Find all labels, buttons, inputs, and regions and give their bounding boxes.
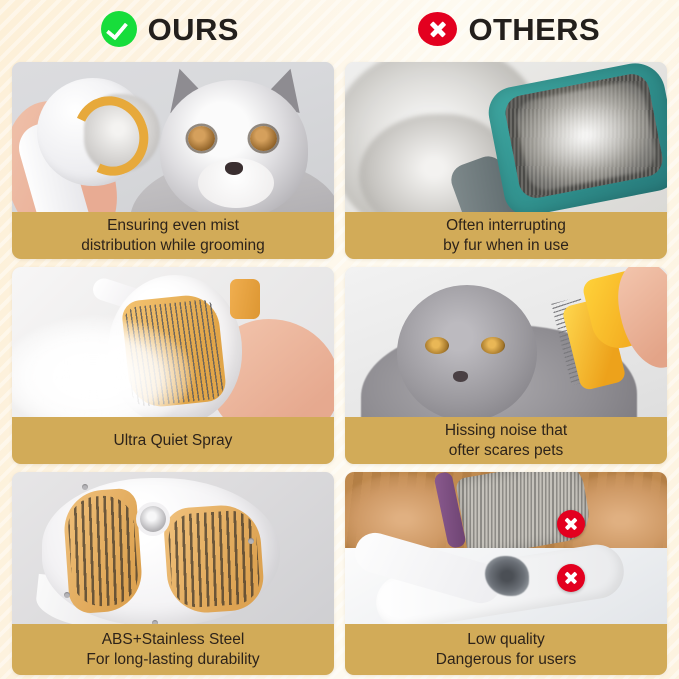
caption-line: ofter scares pets <box>449 441 564 461</box>
x-circle-icon <box>418 12 457 46</box>
scene-clogged-brush-and-broken-handle <box>345 472 667 624</box>
panel-others-row3: Low quality Dangerous for users <box>345 472 667 675</box>
scene-quiet-steam-spray <box>12 267 334 417</box>
header-ours-label: OURS <box>148 14 239 45</box>
caption-ours-row3: ABS+Stainless Steel For long-lasting dur… <box>12 624 334 675</box>
caption-others-row3: Low quality Dangerous for users <box>345 624 667 675</box>
header: OURS OTHERS <box>0 0 679 58</box>
caption-ours-row1: Ensuring even mist distribution while gr… <box>12 212 334 259</box>
scene-product-closeup-steel-plate <box>12 472 334 624</box>
x-circle-icon <box>557 564 585 592</box>
photo-ours-row1 <box>12 62 334 212</box>
caption-line: ABS+Stainless Steel <box>102 630 245 650</box>
comparison-infographic: OURS OTHERS <box>0 0 679 679</box>
photo-others-row1 <box>345 62 667 212</box>
scene-steam-brush-with-cat <box>12 62 334 212</box>
caption-line: distribution while grooming <box>81 236 265 256</box>
caption-line: Dangerous for users <box>436 650 576 670</box>
panel-ours-row1: Ensuring even mist distribution while gr… <box>12 62 334 259</box>
caption-others-row2: Hissing noise that ofter scares pets <box>345 417 667 464</box>
header-others-label: OTHERS <box>468 14 600 45</box>
photo-others-row2 <box>345 267 667 417</box>
caption-line: For long-lasting durability <box>86 650 259 670</box>
photo-ours-row2 <box>12 267 334 417</box>
caption-line: Low quality <box>467 630 545 650</box>
photo-ours-row3 <box>12 472 334 624</box>
header-others: OTHERS <box>340 0 679 58</box>
panel-grid: Ensuring even mist distribution while gr… <box>0 58 679 679</box>
panel-ours-row3: ABS+Stainless Steel For long-lasting dur… <box>12 472 334 675</box>
scene-scared-cat-yellow-brush <box>345 267 667 417</box>
caption-ours-row2: Ultra Quiet Spray <box>12 417 334 464</box>
caption-line: Ensuring even mist <box>107 216 239 236</box>
caption-line: Hissing noise that <box>445 421 567 441</box>
scene-fur-pile-teal-brush <box>345 62 667 212</box>
panel-others-row2: Hissing noise that ofter scares pets <box>345 267 667 464</box>
panel-others-row1: Often interrupting by fur when in use <box>345 62 667 259</box>
x-circle-icon <box>557 510 585 538</box>
header-ours: OURS <box>0 0 340 58</box>
caption-line: Ultra Quiet Spray <box>114 431 233 451</box>
photo-others-row3 <box>345 472 667 624</box>
check-circle-icon <box>101 11 137 47</box>
caption-others-row1: Often interrupting by fur when in use <box>345 212 667 259</box>
caption-line: Often interrupting <box>446 216 566 236</box>
panel-ours-row2: Ultra Quiet Spray <box>12 267 334 464</box>
caption-line: by fur when in use <box>443 236 569 256</box>
